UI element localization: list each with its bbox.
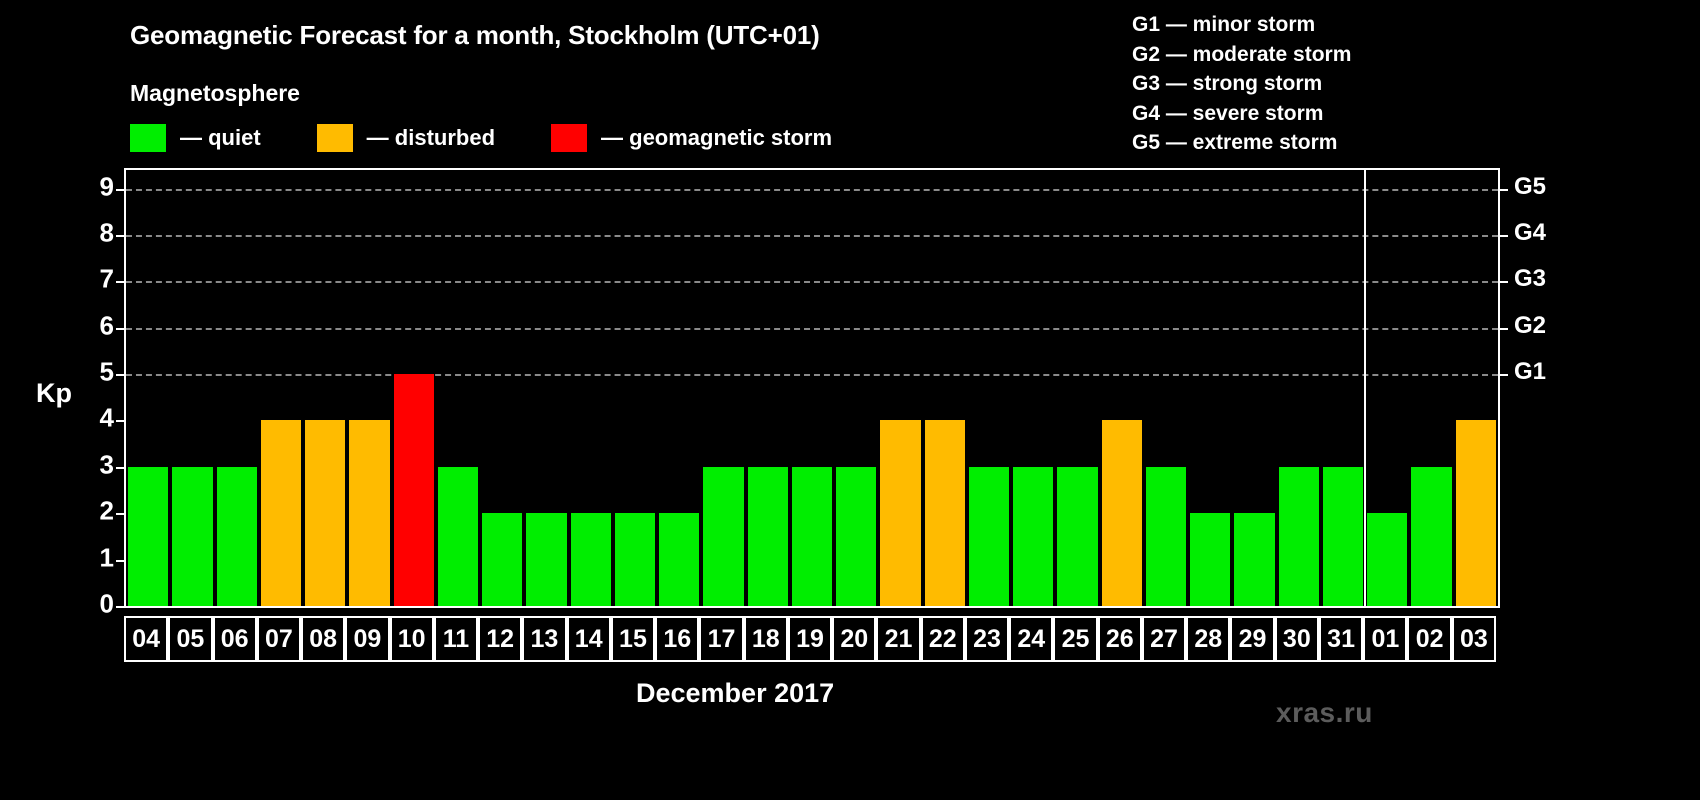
date-cell-27[interactable]: 27	[1142, 616, 1186, 662]
y-tick-label-9: 9	[100, 171, 114, 202]
bar-11	[438, 467, 478, 606]
bar-27	[1146, 467, 1186, 606]
y-tick-5	[116, 374, 126, 376]
g-tick-kp-6	[1498, 328, 1508, 330]
g-tick-label-g3: G3	[1514, 265, 1546, 293]
bar-28	[1190, 513, 1230, 606]
bars	[126, 170, 1498, 606]
date-cell-16[interactable]: 16	[655, 616, 699, 662]
y-tick-9	[116, 189, 126, 191]
legend: — quiet — disturbed — geomagnetic storm	[130, 124, 832, 152]
storm-scale-legend: G1 — minor storm G2 — moderate storm G3 …	[1132, 10, 1351, 158]
date-cell-12[interactable]: 12	[478, 616, 522, 662]
bar-25	[1057, 467, 1097, 606]
bar-18	[748, 467, 788, 606]
bar-04	[128, 467, 168, 606]
y-tick-1	[116, 560, 126, 562]
date-cell-29[interactable]: 29	[1230, 616, 1274, 662]
legend-label-storm: — geomagnetic storm	[601, 125, 832, 151]
storm-scale-line-g4: G4 — severe storm	[1132, 99, 1351, 129]
y-tick-label-0: 0	[100, 589, 114, 620]
bar-08	[305, 420, 345, 606]
bar-17	[703, 467, 743, 606]
date-cell-18[interactable]: 18	[744, 616, 788, 662]
bar-03	[1456, 420, 1496, 606]
x-axis-date-labels: 0405060708091011121314151617181920212223…	[124, 616, 1500, 662]
bar-02	[1411, 467, 1451, 606]
date-cell-25[interactable]: 25	[1053, 616, 1097, 662]
date-cell-03[interactable]: 03	[1452, 616, 1496, 662]
g-tick-label-g4: G4	[1514, 219, 1546, 247]
y-tick-label-7: 7	[100, 264, 114, 295]
page-title: Geomagnetic Forecast for a month, Stockh…	[130, 20, 820, 51]
bar-31	[1323, 467, 1363, 606]
bar-06	[217, 467, 257, 606]
y-tick-label-6: 6	[100, 310, 114, 341]
storm-scale-line-g2: G2 — moderate storm	[1132, 40, 1351, 70]
plot-area	[124, 168, 1500, 608]
red-square-icon	[551, 124, 587, 152]
y-tick-0	[116, 606, 126, 608]
g-tick-kp-8	[1498, 235, 1508, 237]
legend-item-quiet: — quiet	[130, 124, 261, 152]
date-cell-30[interactable]: 30	[1275, 616, 1319, 662]
watermark: xras.ru	[1276, 697, 1373, 729]
date-cell-15[interactable]: 15	[611, 616, 655, 662]
y-axis-tick-labels: 0123456789	[74, 168, 114, 608]
date-cell-06[interactable]: 06	[213, 616, 257, 662]
date-cell-08[interactable]: 08	[301, 616, 345, 662]
date-cell-09[interactable]: 09	[345, 616, 389, 662]
bar-09	[349, 420, 389, 606]
bar-12	[482, 513, 522, 606]
bar-20	[836, 467, 876, 606]
date-cell-04[interactable]: 04	[124, 616, 168, 662]
date-cell-17[interactable]: 17	[699, 616, 743, 662]
green-square-icon	[130, 124, 166, 152]
bar-26	[1102, 420, 1142, 606]
bar-01	[1367, 513, 1407, 606]
date-cell-31[interactable]: 31	[1319, 616, 1363, 662]
legend-label-quiet: — quiet	[180, 125, 261, 151]
storm-scale-line-g5: G5 — extreme storm	[1132, 128, 1351, 158]
bar-29	[1234, 513, 1274, 606]
y-tick-label-3: 3	[100, 449, 114, 480]
legend-item-disturbed: — disturbed	[317, 124, 495, 152]
date-cell-14[interactable]: 14	[567, 616, 611, 662]
legend-item-storm: — geomagnetic storm	[551, 124, 832, 152]
bar-30	[1279, 467, 1319, 606]
y-tick-8	[116, 235, 126, 237]
g-tick-label-g2: G2	[1514, 312, 1546, 340]
bar-24	[1013, 467, 1053, 606]
geomagnetic-forecast-chart: Geomagnetic Forecast for a month, Stockh…	[0, 0, 1700, 800]
date-cell-26[interactable]: 26	[1098, 616, 1142, 662]
y-tick-label-2: 2	[100, 496, 114, 527]
y-tick-3	[116, 467, 126, 469]
x-axis-title: December 2017	[636, 678, 834, 709]
date-cell-24[interactable]: 24	[1009, 616, 1053, 662]
y-tick-label-1: 1	[100, 542, 114, 573]
bar-16	[659, 513, 699, 606]
bar-15	[615, 513, 655, 606]
bar-22	[925, 420, 965, 606]
g-tick-kp-5	[1498, 374, 1508, 376]
g-tick-kp-9	[1498, 189, 1508, 191]
bar-07	[261, 420, 301, 606]
date-cell-19[interactable]: 19	[788, 616, 832, 662]
y-tick-label-8: 8	[100, 217, 114, 248]
g-tick-label-g5: G5	[1514, 173, 1546, 201]
storm-scale-line-g3: G3 — strong storm	[1132, 69, 1351, 99]
bar-05	[172, 467, 212, 606]
g-tick-label-g1: G1	[1514, 358, 1546, 386]
orange-square-icon	[317, 124, 353, 152]
g-tick-kp-7	[1498, 281, 1508, 283]
legend-label-disturbed: — disturbed	[367, 125, 495, 151]
date-cell-13[interactable]: 13	[522, 616, 566, 662]
date-cell-01[interactable]: 01	[1363, 616, 1407, 662]
date-cell-11[interactable]: 11	[434, 616, 478, 662]
magnetosphere-label: Magnetosphere	[130, 80, 300, 107]
date-cell-21[interactable]: 21	[876, 616, 920, 662]
y-tick-2	[116, 513, 126, 515]
y-tick-label-5: 5	[100, 357, 114, 388]
y-tick-label-4: 4	[100, 403, 114, 434]
date-cell-07[interactable]: 07	[257, 616, 301, 662]
bar-19	[792, 467, 832, 606]
date-cell-22[interactable]: 22	[921, 616, 965, 662]
date-cell-20[interactable]: 20	[832, 616, 876, 662]
month-separator-line	[1364, 170, 1366, 606]
g-axis-tick-labels: G1G2G3G4G5	[1514, 168, 1584, 608]
bar-10	[394, 374, 434, 606]
y-axis-title: Kp	[36, 378, 72, 409]
bar-21	[880, 420, 920, 606]
bar-23	[969, 467, 1009, 606]
y-tick-4	[116, 420, 126, 422]
date-cell-10[interactable]: 10	[390, 616, 434, 662]
storm-scale-line-g1: G1 — minor storm	[1132, 10, 1351, 40]
date-cell-02[interactable]: 02	[1407, 616, 1451, 662]
y-tick-7	[116, 281, 126, 283]
date-cell-05[interactable]: 05	[168, 616, 212, 662]
date-cell-28[interactable]: 28	[1186, 616, 1230, 662]
date-cell-23[interactable]: 23	[965, 616, 1009, 662]
bar-13	[526, 513, 566, 606]
y-tick-6	[116, 328, 126, 330]
bar-14	[571, 513, 611, 606]
